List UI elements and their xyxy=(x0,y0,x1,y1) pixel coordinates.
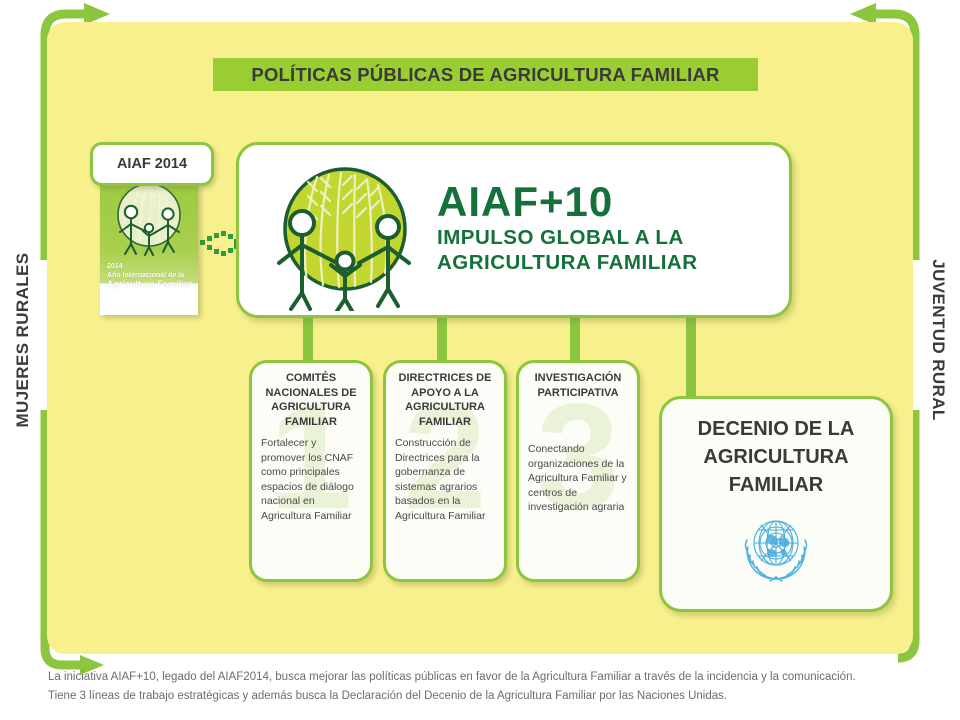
page-title-banner: POLÍTICAS PÚBLICAS DE AGRICULTURA FAMILI… xyxy=(213,58,758,91)
poster-year: 2014 xyxy=(107,262,192,271)
decenio-heading: DECENIO DE LA AGRICULTURA FAMILIAR xyxy=(662,415,890,499)
pillar-heading-2: DIRECTRICES DE APOYO A LA AGRICULTURA FA… xyxy=(392,371,498,429)
pillar-card-2[interactable]: 2 DIRECTRICES DE APOYO A LA AGRICULTURA … xyxy=(383,360,507,582)
pillar-card-3[interactable]: 3 INVESTIGACIÓN PARTICIPATIVA Conectando… xyxy=(516,360,640,582)
caption: La iniciativa AIAF+10, legado del AIAF20… xyxy=(48,668,938,706)
pillar-body-3: Conectando organizaciones de la Agricult… xyxy=(528,442,630,515)
caption-line-2: Tiene 3 líneas de trabajo estratégicas y… xyxy=(48,687,938,706)
aiaf-2014-chip-label: AIAF 2014 xyxy=(117,156,187,172)
pillar-heading-1: COMITÉS NACIONALES DE AGRICULTURA FAMILI… xyxy=(258,371,364,429)
pillar-heading-3: INVESTIGACIÓN PARTICIPATIVA xyxy=(525,371,631,400)
pillar-body-2: Construcción de Directrices para la gobe… xyxy=(395,436,497,523)
aiaf-plus-10-logo-card: AIAF+10 IMPULSO GLOBAL A LA AGRICULTURA … xyxy=(236,142,792,318)
logo-subtitle-line-2: AGRICULTURA FAMILIAR xyxy=(437,250,698,275)
aiaf-plus-10-logo-text: AIAF+10 IMPULSO GLOBAL A LA AGRICULTURA … xyxy=(437,179,698,275)
aiaf-2014-poster-caption: 2014 Año Internacional de la Agricultura… xyxy=(107,262,192,289)
connector-line-4 xyxy=(686,305,696,405)
aiaf-2014-chip[interactable]: AIAF 2014 xyxy=(90,142,214,186)
side-label-juventud-rural: JUVENTUD RURAL xyxy=(928,240,948,440)
un-emblem-icon xyxy=(737,511,815,585)
logo-title: AIAF+10 xyxy=(437,179,698,225)
pillar-body-1: Fortalecer y promover los CNAF como prin… xyxy=(261,436,363,523)
caption-line-1: La iniciativa AIAF+10, legado del AIAF20… xyxy=(48,668,938,687)
aiaf-plus-10-logo-icon xyxy=(257,151,437,311)
aiaf-2014-poster-illustration xyxy=(100,172,198,272)
page-title: POLÍTICAS PÚBLICAS DE AGRICULTURA FAMILI… xyxy=(251,64,719,86)
decenio-card[interactable]: DECENIO DE LA AGRICULTURA FAMILIAR xyxy=(659,396,893,612)
pillar-card-1[interactable]: 1 COMITÉS NACIONALES DE AGRICULTURA FAMI… xyxy=(249,360,373,582)
aiaf-2014-poster: 2014 Año Internacional de la Agricultura… xyxy=(100,172,198,315)
logo-subtitle-line-1: IMPULSO GLOBAL A LA xyxy=(437,225,698,250)
side-label-mujeres-rurales: MUJERES RURALES xyxy=(13,240,33,440)
poster-line-2: Agricultura Familiar xyxy=(107,280,192,289)
